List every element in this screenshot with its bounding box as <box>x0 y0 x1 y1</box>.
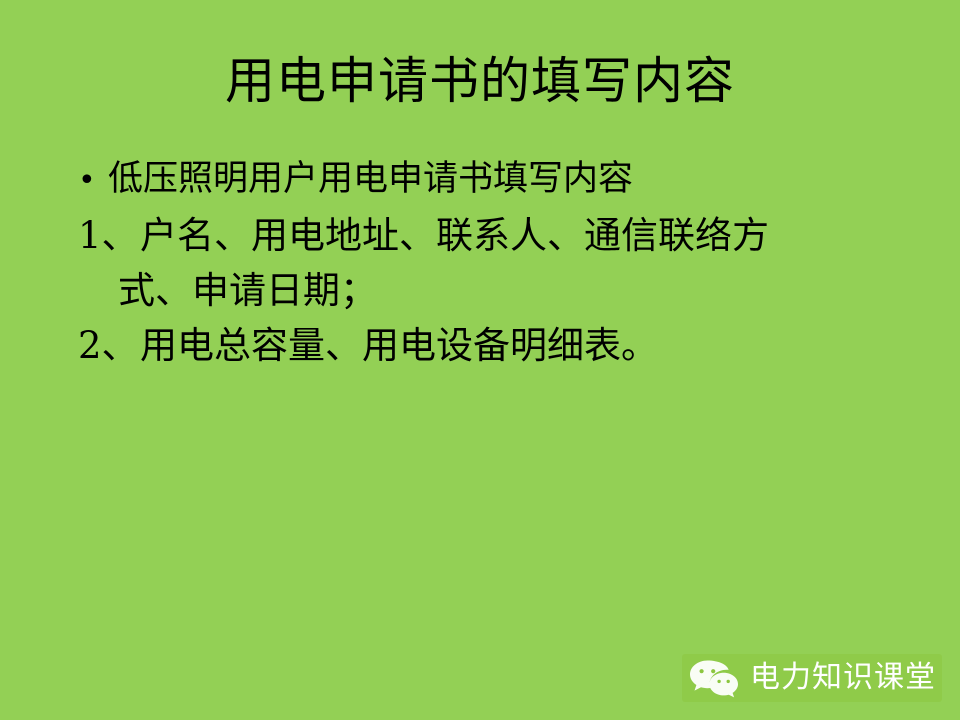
numbered-list-item-text: 用电总容量、用电设备明细表。 <box>140 318 658 373</box>
bullet-point-icon: • <box>78 153 108 208</box>
numbered-list-item-text: 户名、用电地址、联系人、通信联络方 <box>140 208 769 263</box>
numbered-list-item-marker: 2、 <box>78 318 140 373</box>
numbered-list-item: 1、 户名、用电地址、联系人、通信联络方 <box>78 208 938 263</box>
bullet-list-item-text: 低压照明用户用电申请书填写内容 <box>108 152 633 207</box>
presentation-slide: 用电申请书的填写内容 • 低压照明用户用电申请书填写内容 1、 户名、用电地址、… <box>0 0 960 720</box>
wechat-icon <box>688 658 740 698</box>
numbered-list-item-marker: 1、 <box>78 208 140 263</box>
bullet-list-item: • 低压照明用户用电申请书填写内容 <box>78 152 938 208</box>
slide-body: • 低压照明用户用电申请书填写内容 1、 户名、用电地址、联系人、通信联络方 式… <box>78 152 938 373</box>
watermark-text: 电力知识课堂 <box>750 661 936 695</box>
numbered-list-item-continuation: 式、申请日期； <box>78 263 938 318</box>
watermark: 电力知识课堂 <box>682 654 942 702</box>
slide-title: 用电申请书的填写内容 <box>225 52 735 110</box>
slide-title-block: 用电申请书的填写内容 <box>0 52 960 110</box>
numbered-list-item: 2、 用电总容量、用电设备明细表。 <box>78 318 938 373</box>
